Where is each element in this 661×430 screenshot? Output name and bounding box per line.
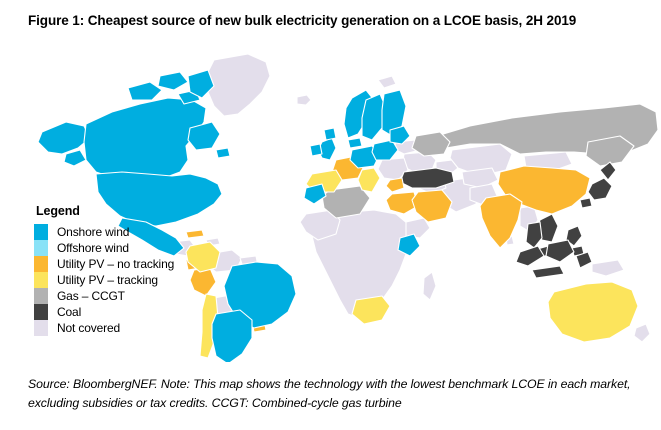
- legend-item-utility-pv-no-tracking[interactable]: Utility PV – no tracking: [34, 256, 184, 272]
- legend-swatch-onshore-wind: [34, 224, 48, 240]
- legend-swatch-offshore-wind: [34, 240, 48, 256]
- region-newfoundland: [216, 148, 230, 158]
- region-svalbard: [378, 76, 396, 88]
- region-canada-arctic-1: [128, 82, 162, 100]
- legend-label-coal: Coal: [57, 304, 81, 320]
- region-iceland: [297, 95, 311, 105]
- region-cuba: [186, 230, 204, 238]
- region-japan-kyushu: [580, 198, 592, 208]
- figure-title: Figure 1: Cheapest source of new bulk el…: [28, 12, 638, 30]
- legend-item-coal[interactable]: Coal: [34, 304, 184, 320]
- legend-item-utility-pv-tracking[interactable]: Utility PV – tracking: [34, 272, 184, 288]
- region-indonesia-java: [532, 266, 564, 278]
- legend-item-not-covered[interactable]: Not covered: [34, 320, 184, 336]
- region-japan-honshu: [588, 178, 612, 200]
- legend-title: Legend: [36, 204, 184, 218]
- region-thailand: [526, 222, 542, 248]
- legend-label-gas-ccgt: Gas – CCGT: [57, 288, 125, 304]
- region-indonesia-borneo: [546, 240, 574, 262]
- region-ireland: [310, 144, 322, 156]
- region-india: [480, 194, 522, 248]
- region-greenland: [206, 54, 270, 116]
- legend-item-offshore-wind[interactable]: Offshore wind: [34, 240, 184, 256]
- legend-swatch-gas-ccgt: [34, 288, 48, 304]
- legend-label-not-covered: Not covered: [57, 320, 120, 336]
- legend: Legend Onshore wind Offshore wind Utilit…: [34, 204, 184, 336]
- region-australia: [548, 282, 638, 342]
- region-south-africa: [352, 296, 390, 324]
- source-note: Source: BloombergNEF. Note: This map sho…: [28, 375, 643, 413]
- region-madagascar: [423, 272, 436, 300]
- figure-container: Figure 1: Cheapest source of new bulk el…: [0, 0, 661, 430]
- region-denmark: [348, 138, 362, 148]
- region-new-zealand: [634, 324, 650, 342]
- region-alaska: [38, 122, 90, 154]
- region-italy: [358, 168, 380, 192]
- region-uk-scotland: [324, 128, 336, 140]
- region-indonesia-sumatra: [516, 246, 544, 266]
- region-argentina: [212, 310, 252, 362]
- legend-swatch-utility-pv-tracking: [34, 272, 48, 288]
- region-greece: [386, 178, 404, 192]
- legend-item-onshore-wind[interactable]: Onshore wind: [34, 224, 184, 240]
- legend-item-gas-ccgt[interactable]: Gas – CCGT: [34, 288, 184, 304]
- region-russia-west: [412, 132, 450, 156]
- legend-label-utility-pv-tracking: Utility PV – tracking: [57, 272, 158, 288]
- region-saudi-arabia: [412, 190, 452, 222]
- legend-label-utility-pv-no-tracking: Utility PV – no tracking: [57, 256, 174, 272]
- legend-swatch-coal: [34, 304, 48, 320]
- legend-label-offshore-wind: Offshore wind: [57, 240, 129, 256]
- legend-swatch-not-covered: [34, 320, 48, 336]
- legend-label-onshore-wind: Onshore wind: [57, 224, 129, 240]
- region-turkey: [400, 168, 454, 188]
- legend-swatch-utility-pv-no-tracking: [34, 256, 48, 272]
- region-peru: [190, 268, 216, 296]
- region-canada-arctic-2: [158, 72, 188, 90]
- region-papua-new-guinea: [592, 260, 624, 276]
